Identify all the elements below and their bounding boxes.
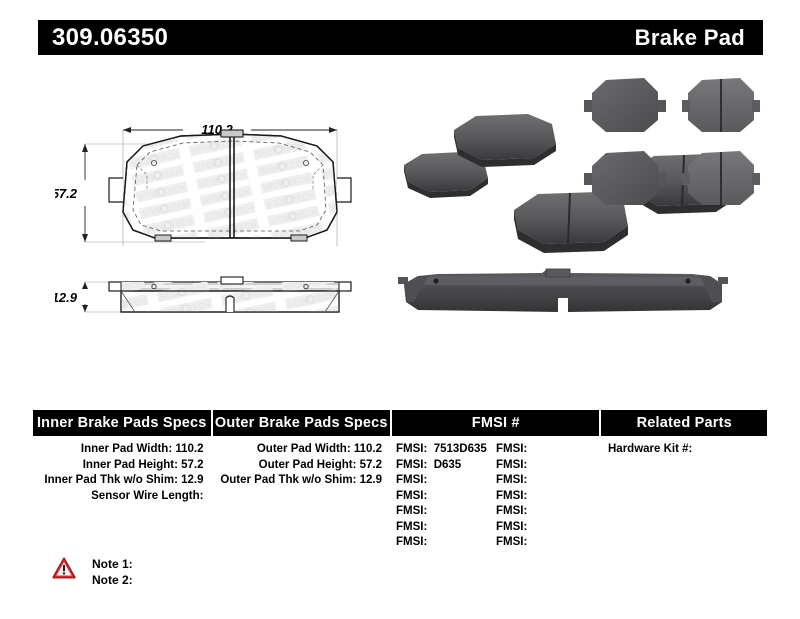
fmsi-line: FMSI:: [396, 520, 496, 536]
fmsi-line: FMSI:: [396, 535, 496, 551]
inner-spec-line: Sensor Wire Length:: [33, 489, 204, 505]
inner-spec-line: Inner Pad Thk w/o Shim: 12.9: [33, 473, 204, 489]
fmsi-line: FMSI:: [496, 504, 596, 520]
related-parts-cell: Hardware Kit #:: [598, 442, 767, 551]
dimension-thickness-label: 12.9: [55, 290, 78, 305]
warning-triangle-icon: [52, 557, 76, 579]
note-line: Note 1:: [92, 556, 133, 572]
outer-spec-line: Outer Pad Thk w/o Shim: 12.9: [212, 473, 383, 489]
specs-table-header-row: Inner Brake Pads Specs Outer Brake Pads …: [33, 410, 767, 436]
product-type-label: Brake Pad: [635, 25, 745, 51]
fmsi-line: FMSI:: [496, 535, 596, 551]
inner-spec-line: Inner Pad Width: 110.2: [33, 442, 204, 458]
fmsi-line: FMSI:: [396, 473, 496, 489]
technical-drawing: STOP TECH STOP TECH: [55, 118, 385, 333]
related-part-line: Hardware Kit #:: [608, 442, 767, 458]
fmsi-cell: FMSI: 7513D635 FMSI: D635 FMSI: FMSI: FM…: [390, 442, 596, 551]
fmsi-column-left: FMSI: 7513D635 FMSI: D635 FMSI: FMSI: FM…: [396, 442, 496, 551]
title-bar: 309.06350 Brake Pad: [38, 20, 763, 55]
outer-spec-line: Outer Pad Height: 57.2: [212, 458, 383, 474]
fmsi-line: FMSI:: [496, 520, 596, 536]
inner-spec-line: Inner Pad Height: 57.2: [33, 458, 204, 474]
note-line: Note 2:: [92, 572, 133, 588]
part-number-label: 309.06350: [52, 24, 168, 52]
specs-table-body-row: Inner Pad Width: 110.2 Inner Pad Height:…: [33, 436, 767, 551]
column-header-outer-specs: Outer Brake Pads Specs: [213, 410, 391, 436]
pad-photo-flat-topright: [682, 78, 760, 132]
dimension-height-label: 57.2: [55, 186, 78, 201]
outer-spec-line: Outer Pad Width: 110.2: [212, 442, 383, 458]
pad-photo-angled-2: [454, 114, 556, 167]
inner-specs-cell: Inner Pad Width: 110.2 Inner Pad Height:…: [33, 442, 210, 551]
specs-table: Inner Brake Pads Specs Outer Brake Pads …: [33, 410, 767, 551]
fmsi-column-right: FMSI: FMSI: FMSI: FMSI: FMSI: FMSI: FMSI…: [496, 442, 596, 551]
pad-photo-flat-topleft: [584, 78, 666, 132]
fmsi-line: FMSI: D635: [396, 458, 496, 474]
fmsi-line: FMSI:: [496, 442, 596, 458]
fmsi-line: FMSI: 7513D635: [396, 442, 496, 458]
fmsi-line: FMSI:: [496, 489, 596, 505]
column-header-related-parts: Related Parts: [601, 410, 767, 436]
fmsi-line: FMSI:: [496, 458, 596, 474]
fmsi-line: FMSI:: [396, 489, 496, 505]
outer-specs-cell: Outer Pad Width: 110.2 Outer Pad Height:…: [212, 442, 389, 551]
column-header-fmsi: FMSI #: [392, 410, 599, 436]
notes-section: Note 1: Note 2:: [52, 556, 133, 588]
notes-text: Note 1: Note 2:: [92, 556, 133, 588]
column-header-inner-specs: Inner Brake Pads Specs: [33, 410, 211, 436]
fmsi-line: FMSI:: [496, 473, 596, 489]
product-photo: [392, 70, 792, 340]
pad-photo-edge-view: [398, 269, 728, 312]
fmsi-line: FMSI:: [396, 504, 496, 520]
